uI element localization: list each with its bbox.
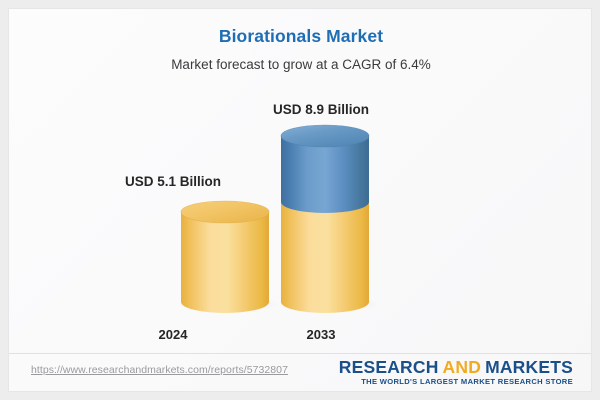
infographic-canvas: Biorationals Market Market forecast to g… [0,0,600,400]
logo-word-and: AND [443,357,482,377]
value-label-2024: USD 5.1 Billion [73,174,273,189]
value-label-2033: USD 8.9 Billion [221,102,421,117]
category-label-2033: 2033 [221,327,421,342]
logo-wordmark: RESEARCHANDMARKETS [339,358,573,377]
logo-word-research: RESEARCH [339,357,439,377]
bar-chart: USD 5.1 Billion [9,9,592,392]
cylinder-bar-2033 [273,123,377,311]
research-and-markets-logo[interactable]: RESEARCHANDMARKETS THE WORLD'S LARGEST M… [339,358,573,387]
infographic-card: Biorationals Market Market forecast to g… [8,8,592,392]
cylinder-bar-2024 [173,199,277,311]
logo-tagline: THE WORLD'S LARGEST MARKET RESEARCH STOR… [339,377,573,387]
footer-divider [9,353,592,354]
report-url-link[interactable]: https://www.researchandmarkets.com/repor… [31,364,288,376]
logo-word-markets: MARKETS [485,357,573,377]
